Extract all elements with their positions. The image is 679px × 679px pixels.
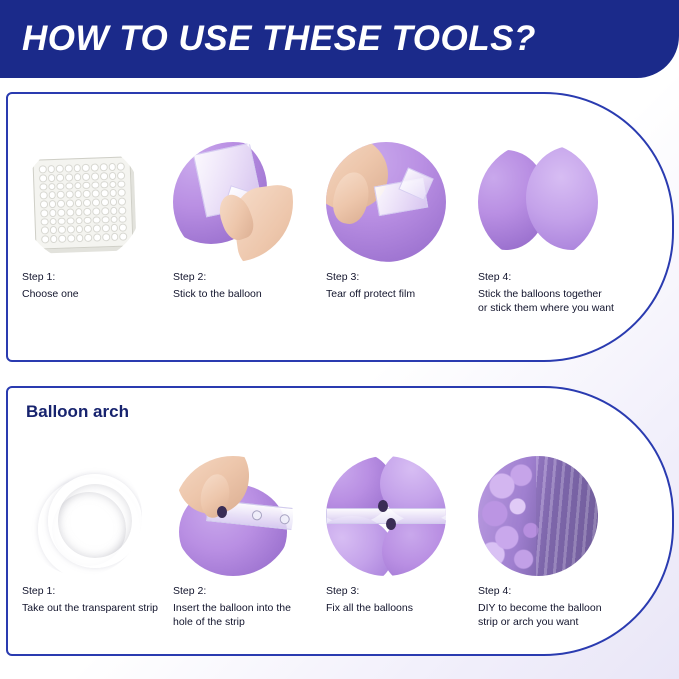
balloon-knot-icon (217, 506, 227, 518)
step-card-1-3: Step 3: Tear off protect film (326, 142, 486, 302)
balloon-arch-photo (478, 456, 598, 576)
step-desc: Fix all the balloons (326, 602, 486, 616)
step-card-1-2: Step 2: Stick to the balloon (173, 142, 333, 302)
balloon-knot-icon (386, 518, 396, 530)
step-desc: Tear off protect film (326, 288, 486, 302)
panel-basic-steps: Step 1: Choose one Step 2: Stick to the … (6, 92, 674, 362)
page-title: HOW TO USE THESE TOOLS? (0, 19, 536, 59)
step-desc: Choose one (22, 288, 182, 302)
step-desc: Take out the transparent strip (22, 602, 182, 616)
step-image-stick-to-balloon (173, 142, 293, 262)
step-image-finished-arch (478, 456, 598, 576)
step-label: Step 4: (478, 585, 658, 598)
step-image-fix-balloons (326, 456, 446, 576)
curtain-drape-icon (536, 456, 598, 576)
balloon-knot-icon (378, 500, 388, 512)
step-image-transparent-strip (22, 456, 142, 576)
panel-balloon-arch: Balloon arch Step 1: Take out the transp… (6, 386, 674, 656)
header-banner: HOW TO USE THESE TOOLS? (0, 0, 679, 78)
step-image-dot-glue-sheet (22, 142, 142, 262)
step-card-2-1: Step 1: Take out the transparent strip (22, 456, 182, 616)
step-card-1-1: Step 1: Choose one (22, 142, 182, 302)
step-label: Step 2: (173, 271, 333, 284)
step-label: Step 1: (22, 271, 182, 284)
step-label: Step 1: (22, 585, 182, 598)
step-label: Step 2: (173, 585, 333, 598)
step-card-2-2: Step 2: Insert the balloon into the hole… (173, 456, 333, 629)
step-card-2-4: Step 4: DIY to become the balloon strip … (478, 456, 658, 629)
step-card-2-3: Step 3: Fix all the balloons (326, 456, 486, 616)
step-desc: Insert the balloon into the hole of the … (173, 602, 333, 629)
step-image-insert-balloon (173, 456, 293, 576)
step-image-tear-off-film (326, 142, 446, 262)
step-desc: Stick to the balloon (173, 288, 333, 302)
step-card-1-4: Step 4: Stick the balloons together or s… (478, 142, 658, 315)
step-desc: Stick the balloons together or stick the… (478, 288, 658, 315)
step-desc: DIY to become the balloon strip or arch … (478, 602, 658, 629)
step-label: Step 3: (326, 585, 486, 598)
strip-hole-icon (251, 510, 262, 521)
strip-hole-icon (279, 514, 290, 525)
balloon-right-icon (526, 146, 598, 250)
poster-page: HOW TO USE THESE TOOLS? (0, 0, 679, 679)
strip-roll-inner-icon (48, 474, 142, 568)
panel-title: Balloon arch (26, 402, 129, 422)
step-label: Step 4: (478, 271, 658, 284)
dot-glue-sheet-icon (32, 156, 133, 249)
step-label: Step 3: (326, 271, 486, 284)
step-image-balloons-together (478, 142, 598, 262)
